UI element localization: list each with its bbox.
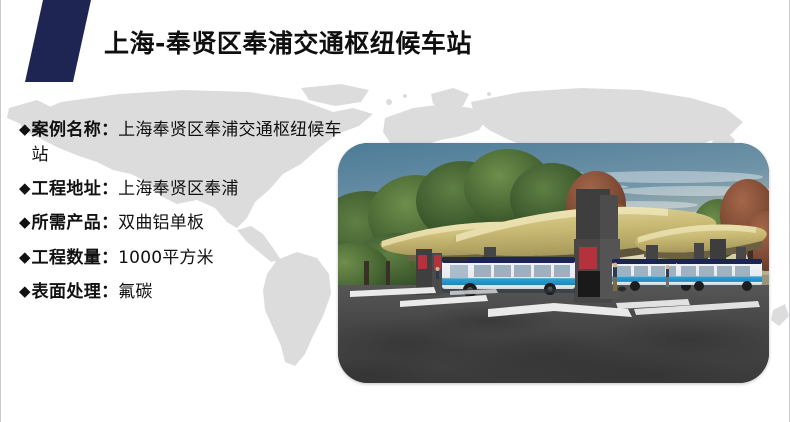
spec-text: 工程数量：1000平方米: [32, 246, 349, 271]
brand-parallelogram-mark: [25, 0, 91, 82]
diamond-bullet-icon: ◆: [19, 247, 31, 269]
spec-label: 工程地址: [32, 179, 102, 199]
spec-text: 表面处理：氟碳: [32, 280, 349, 305]
spec-value: 1000平方米: [118, 248, 214, 268]
spec-text: 案例名称：上海奉贤区奉浦交通枢纽候车站: [32, 118, 349, 168]
spec-list: ◆ 案例名称：上海奉贤区奉浦交通枢纽候车站 ◆ 工程地址：上海奉贤区奉浦 ◆ 所…: [19, 118, 349, 314]
project-rendering-photo: [338, 143, 769, 383]
spec-value: 双曲铝单板: [118, 213, 204, 233]
diamond-bullet-icon: ◆: [19, 178, 31, 200]
spec-colon: ：: [101, 120, 118, 140]
spec-label: 所需产品: [32, 213, 102, 233]
diamond-bullet-icon: ◆: [19, 212, 31, 234]
diamond-bullet-icon: ◆: [19, 281, 31, 303]
spec-colon: ：: [101, 213, 118, 233]
slide-canvas: 上海-奉贤区奉浦交通枢纽候车站 ◆ 案例名称：上海奉贤区奉浦交通枢纽候车站 ◆ …: [0, 0, 790, 422]
spec-label: 案例名称: [32, 120, 102, 140]
page-title: 上海-奉贤区奉浦交通枢纽候车站: [104, 24, 472, 60]
spec-label: 表面处理: [32, 282, 102, 302]
list-item: ◆ 所需产品：双曲铝单板: [19, 211, 349, 236]
spec-label: 工程数量: [32, 248, 102, 268]
list-item: ◆ 案例名称：上海奉贤区奉浦交通枢纽候车站: [19, 118, 349, 168]
diamond-bullet-icon: ◆: [19, 119, 31, 141]
spec-text: 所需产品：双曲铝单板: [32, 211, 349, 236]
list-item: ◆ 工程地址：上海奉贤区奉浦: [19, 177, 349, 202]
spec-value: 氟碳: [118, 282, 152, 302]
list-item: ◆ 工程数量：1000平方米: [19, 246, 349, 271]
spec-value: 上海奉贤区奉浦: [118, 179, 238, 199]
list-item: ◆ 表面处理：氟碳: [19, 280, 349, 305]
spec-colon: ：: [101, 282, 118, 302]
spec-colon: ：: [101, 179, 118, 199]
spec-text: 工程地址：上海奉贤区奉浦: [32, 177, 349, 202]
spec-colon: ：: [101, 248, 118, 268]
